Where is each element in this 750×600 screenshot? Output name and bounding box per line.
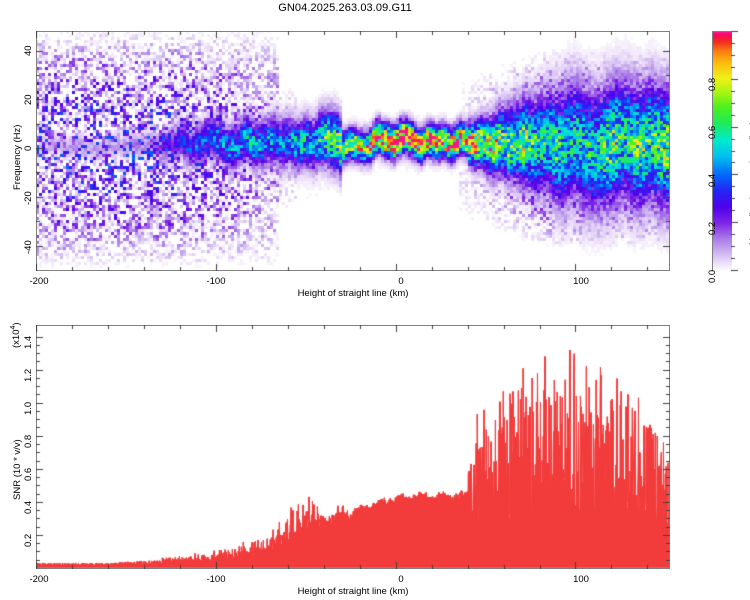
snr-panel bbox=[36, 325, 670, 569]
bottom-ytick-label-1p0: 1.0 bbox=[23, 402, 34, 415]
top-ytick-label-20: 20 bbox=[23, 94, 34, 105]
top-xtick-label-1: -100 bbox=[201, 276, 231, 287]
top-xtick-label-3: 100 bbox=[566, 276, 596, 287]
multiplier-exponent: 4 bbox=[10, 326, 17, 330]
top-ytick-label-40: 40 bbox=[23, 45, 34, 56]
top-xtick-label-0: -200 bbox=[24, 276, 54, 287]
bottom-ytick-label-0p8: 0.8 bbox=[23, 435, 34, 448]
colorbar-tick-label-1: 0.2 bbox=[707, 222, 718, 235]
snr-trace bbox=[36, 325, 670, 569]
bottom-yaxis-label: SNR (10 * v/v) bbox=[12, 439, 23, 500]
top-xtick-label-2: 0 bbox=[386, 276, 416, 287]
top-xaxis-label: Height of straight line (km) bbox=[253, 288, 453, 299]
multiplier-close: ) bbox=[11, 322, 22, 325]
bottom-ytick-label-1p4: 1.4 bbox=[23, 336, 34, 349]
bottom-xtick-label-3: 100 bbox=[566, 574, 596, 585]
colorbar-tick-label-3: 0.6 bbox=[707, 126, 718, 139]
top-ytick-label-n40: -40 bbox=[23, 240, 34, 254]
bottom-xtick-label-1: -100 bbox=[201, 574, 231, 585]
top-yaxis-label: Frequency (Hz) bbox=[12, 125, 23, 190]
page-title: GN04.2025.263.03.09.G11 bbox=[0, 2, 690, 14]
colorbar-tick-label-2: 0.4 bbox=[707, 174, 718, 187]
spectrogram-panel bbox=[36, 31, 670, 271]
spectrogram-image bbox=[36, 31, 670, 271]
bottom-xtick-label-2: 0 bbox=[386, 574, 416, 585]
bottom-xtick-label-0: -200 bbox=[24, 574, 54, 585]
bottom-xaxis-label: Height of straight line (km) bbox=[253, 586, 453, 597]
colorbar-ticks bbox=[731, 28, 745, 274]
bottom-ytick-label-0p2: 0.2 bbox=[23, 534, 34, 547]
multiplier-open: (x10 bbox=[11, 330, 22, 348]
bottom-yaxis-multiplier: (x104) bbox=[10, 322, 22, 348]
colorbar-tick-label-4: 0.8 bbox=[707, 78, 718, 91]
bottom-ytick-label-1p2: 1.2 bbox=[23, 369, 34, 382]
top-ytick-label-0: 0 bbox=[23, 146, 34, 151]
figure-canvas: GN04.2025.263.03.09.G11 -200 -100 0 100 … bbox=[0, 0, 750, 600]
colorbar-gradient bbox=[713, 32, 732, 272]
bottom-ytick-label-0p6: 0.6 bbox=[23, 468, 34, 481]
colorbar-tick-label-0: 0.0 bbox=[707, 270, 718, 283]
colorbar bbox=[712, 31, 731, 271]
top-ytick-label-n20: -20 bbox=[23, 191, 34, 205]
bottom-ytick-label-0p4: 0.4 bbox=[23, 501, 34, 514]
